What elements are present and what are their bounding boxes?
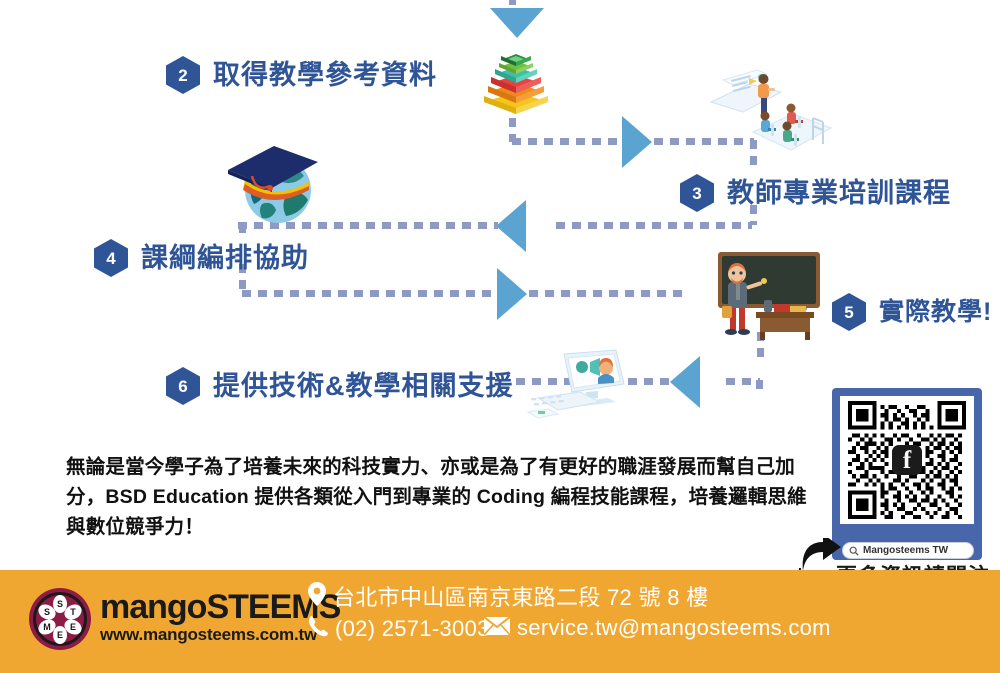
step-5[interactable]: 5 實際教學! (832, 293, 992, 331)
svg-text:S: S (44, 607, 50, 617)
location-pin-icon (308, 582, 326, 611)
training-classroom-icon (705, 68, 833, 160)
step-6-number: 6 (178, 378, 187, 395)
step-3-number: 3 (692, 185, 701, 202)
phone-text: (02) 2571-3003 (335, 616, 490, 642)
mangosteems-logo-icon: S T E E M S (28, 587, 92, 651)
phone-icon (308, 615, 328, 642)
step-5-number: 5 (844, 304, 853, 321)
brand-wordmark: mangoSTEEMS (100, 590, 340, 624)
footer-address: 台北市中山區南京東路二段 72 號 8 樓 (308, 580, 708, 612)
teacher-blackboard-icon (686, 250, 831, 342)
connector-dash-books-to-training (512, 138, 622, 145)
step-2-label: 取得教學參考資料 (213, 62, 437, 89)
arrow-right-to-step5 (497, 268, 527, 320)
step-3-label: 教師專業培訓課程 (727, 180, 951, 207)
step-4[interactable]: 4 課綱編排協助 (94, 239, 309, 277)
step-4-badge: 4 (94, 239, 128, 277)
step-6-badge: 6 (166, 367, 200, 405)
arrow-down-to-books (490, 8, 544, 38)
qr-search-field[interactable]: Mangosteems TW (842, 542, 974, 559)
address-text: 台北市中山區南京東路二段 72 號 8 樓 (333, 580, 708, 612)
svg-text:T: T (70, 607, 76, 617)
body-paragraph: 無論是當今學子為了培養未來的科技實力、亦或是為了有更好的職涯發展而幫自己加分，B… (66, 452, 826, 543)
step-5-badge: 5 (832, 293, 866, 331)
svg-text:S: S (57, 599, 63, 609)
connector-dash-step4-to-step5 (242, 290, 497, 297)
qr-code-image: f (840, 396, 974, 524)
step-6[interactable]: 6 提供技術&教學相關支援 (166, 367, 514, 405)
connector-dash-step5-in (529, 290, 689, 297)
arrow-right-to-training (622, 116, 652, 168)
step-2-badge: 2 (166, 56, 200, 94)
connector-dash-step5-to-step6 (726, 378, 760, 385)
footer-bar: S T E E M S mangoSTEEMS www.mangosteems.… (0, 570, 1000, 673)
connector-dash-step3-to-step4 (556, 222, 752, 229)
qr-search-value: Mangosteems TW (863, 545, 948, 556)
poster-canvas: 2 取得教學參考資料 3 教師專業培訓課程 4 課綱編排協助 5 實際教學! 6… (0, 0, 1000, 673)
search-icon (849, 546, 859, 556)
footer-email: service.tw@mangosteems.com (484, 615, 831, 641)
arrow-left-to-step6 (670, 356, 700, 408)
envelope-icon (484, 617, 510, 640)
step-4-label: 課綱編排協助 (141, 245, 309, 272)
step-2[interactable]: 2 取得教學參考資料 (166, 56, 437, 94)
footer-phone: (02) 2571-3003 (308, 615, 490, 642)
step-6-label: 提供技術&教學相關支援 (213, 373, 514, 400)
step-5-label: 實際教學! (879, 300, 992, 325)
svg-text:E: E (57, 630, 63, 640)
globe-graduation-cap-icon (218, 132, 328, 232)
svg-text:M: M (43, 622, 51, 632)
computer-video-call-icon (524, 348, 650, 422)
arrow-left-to-step4 (496, 200, 526, 252)
email-text: service.tw@mangosteems.com (517, 615, 831, 641)
connector-dash-step6-down (756, 380, 763, 392)
step-3-badge: 3 (680, 174, 714, 212)
step-3[interactable]: 3 教師專業培訓課程 (680, 174, 951, 212)
brand-website: www.mangosteems.com.tw (100, 625, 317, 645)
books-stack-icon (476, 40, 556, 120)
facebook-icon: f (892, 445, 922, 475)
step-4-number: 4 (106, 250, 115, 267)
svg-text:E: E (70, 622, 76, 632)
facebook-qr-card[interactable]: f (832, 388, 982, 560)
step-2-number: 2 (178, 67, 187, 84)
